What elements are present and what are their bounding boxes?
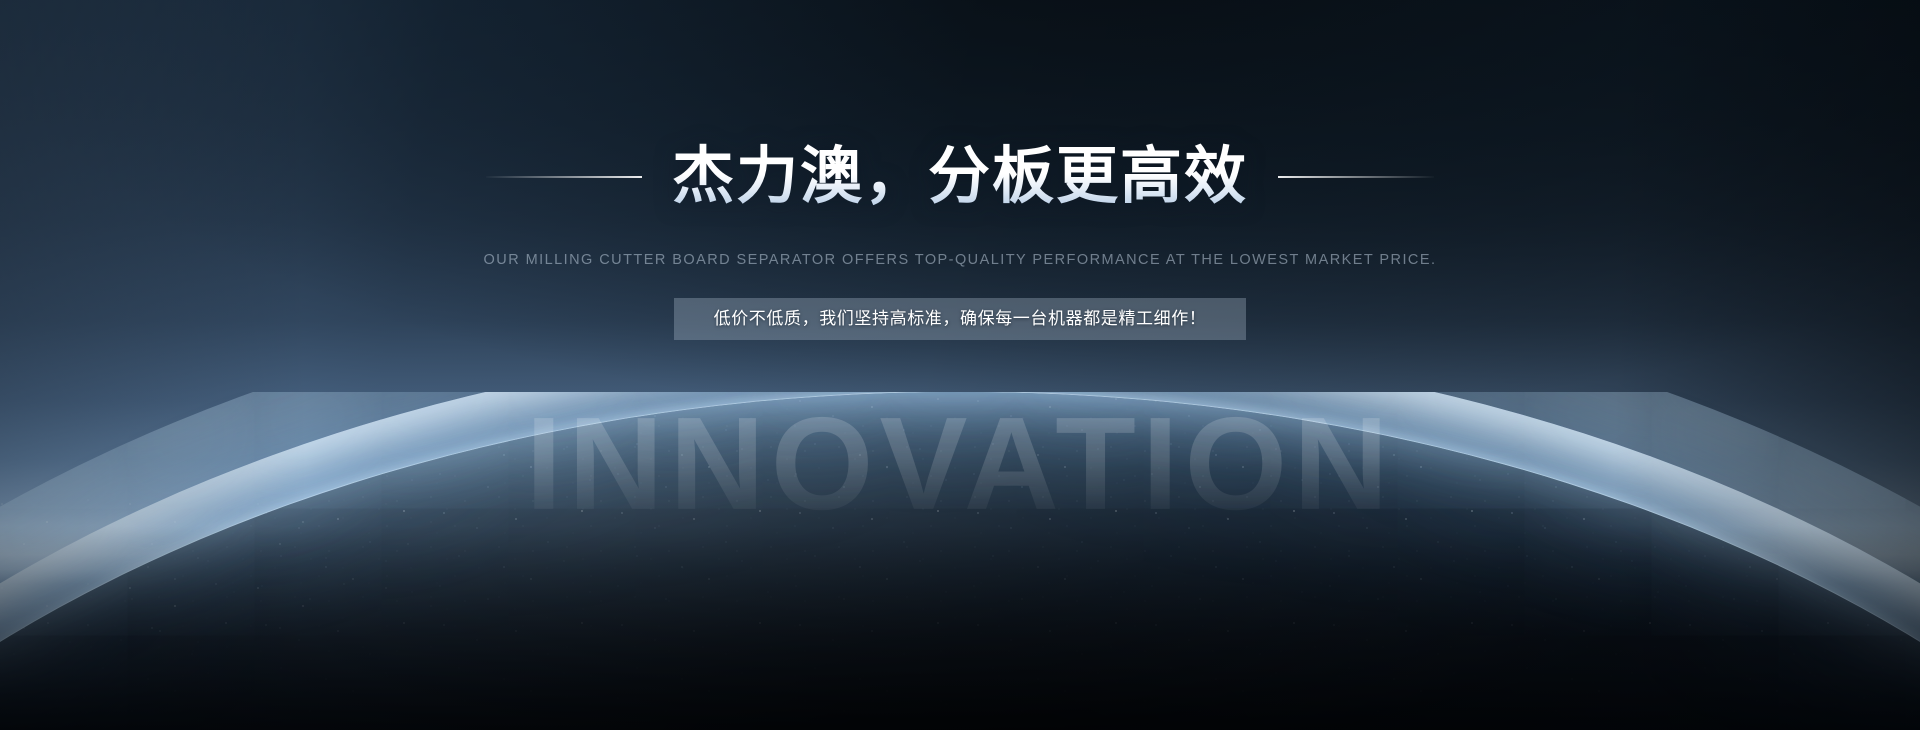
highlight-banner-text: 低价不低质，我们坚持高标准，确保每一台机器都是精工细作！ xyxy=(714,298,1207,340)
subtitle-tagline: OUR MILLING CUTTER BOARD SEPARATOR OFFER… xyxy=(0,249,1920,271)
banner-content: 杰力澳，分板更高效 OUR MILLING CUTTER BOARD SEPAR… xyxy=(0,0,1920,730)
page-title: 杰力澳，分板更高效 xyxy=(672,140,1248,214)
hero-banner: INNOVATION 杰力澳，分板更高效 OUR MILLING CUTTER … xyxy=(0,0,1920,730)
decorative-rule-left xyxy=(486,176,642,178)
highlight-banner: 低价不低质，我们坚持高标准，确保每一台机器都是精工细作！ xyxy=(674,298,1246,340)
decorative-rule-right xyxy=(1278,176,1434,178)
title-row: 杰力澳，分板更高效 xyxy=(0,140,1920,214)
